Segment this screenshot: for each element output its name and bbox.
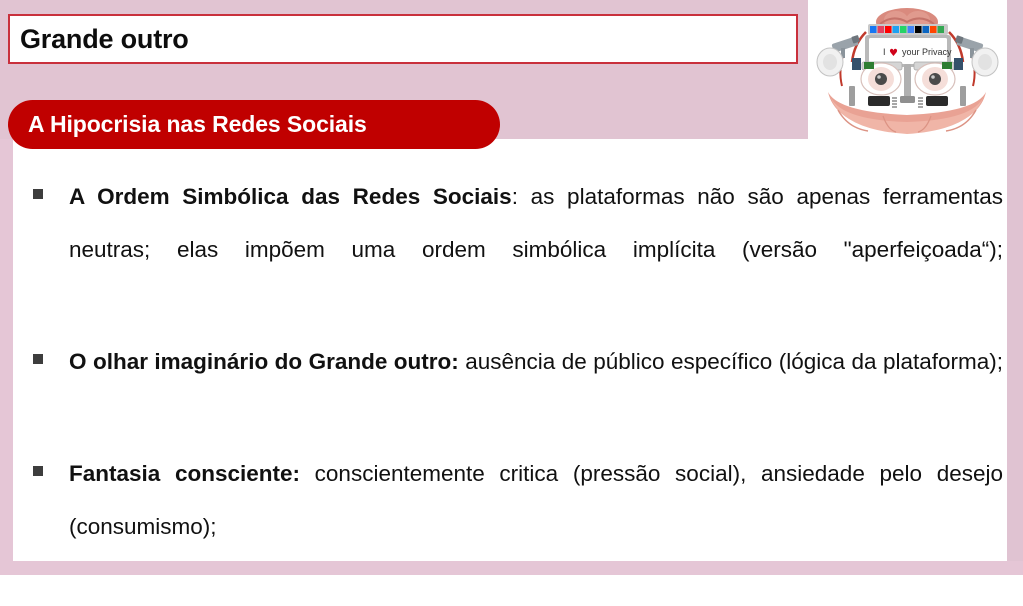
list-item: Fantasia consciente: conscientemente cri… [13,447,1007,606]
surveillance-head-image: I ♥ your Privacy [808,0,1007,139]
bullet-lead: A Ordem Simbólica das Redes Sociais [69,184,512,209]
svg-text:♥: ♥ [889,48,898,59]
list-item: A Ordem Simbólica das Redes Sociais: as … [13,170,1007,329]
surveillance-head-illustration: I ♥ your Privacy [808,0,1007,139]
bullet-lead: O olhar imaginário do Grande outro: [69,349,459,374]
page-title: Grande outro [10,26,189,53]
list-item: O olhar imaginário do Grande outro: ausê… [13,335,1007,441]
svg-text:I: I [883,47,886,57]
slide-body: A Ordem Simbólica das Redes Sociais: as … [13,170,1007,561]
subtitle-label: A Hipocrisia nas Redes Sociais [8,113,367,136]
subtitle-pill: A Hipocrisia nas Redes Sociais [8,100,500,149]
bullet-rest: ausência de público específico (lógica d… [459,349,1003,374]
bullet-list: A Ordem Simbólica das Redes Sociais: as … [13,170,1007,606]
bullet-lead: Fantasia consciente: [69,461,300,486]
slide-title-box: Grande outro [8,14,798,64]
square-bullet-icon [33,189,43,199]
square-bullet-icon [33,354,43,364]
svg-text:your Privacy: your Privacy [902,47,952,57]
square-bullet-icon [33,466,43,476]
frame-strip-right [1007,0,1023,575]
slide-canvas: Grande outro A Hipocrisia nas Redes Soci… [0,0,1023,575]
